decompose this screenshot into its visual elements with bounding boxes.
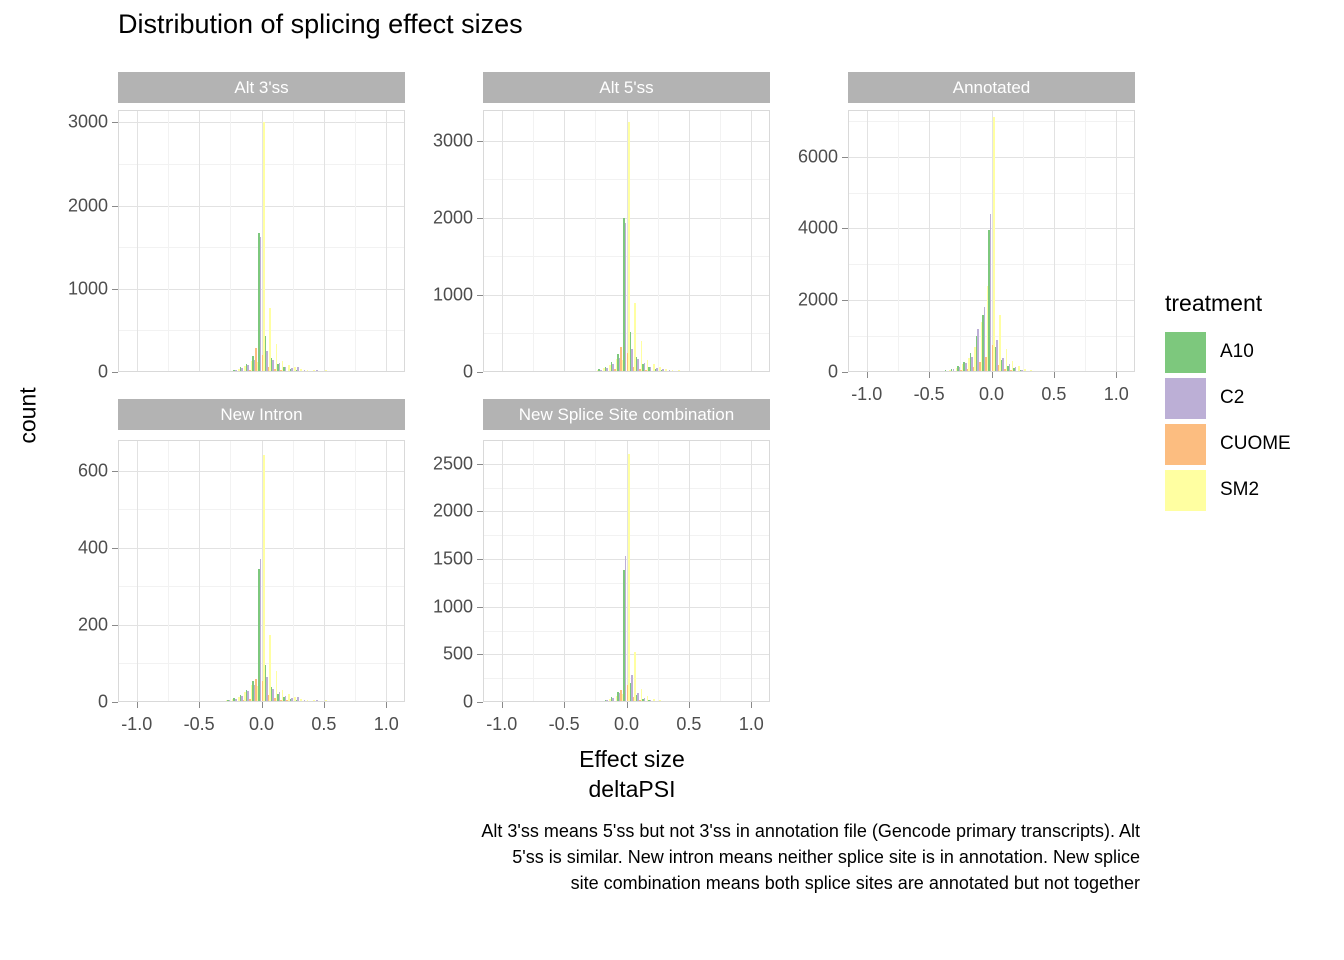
gridline-x-minor <box>293 110 294 372</box>
legend-item-label: C2 <box>1220 387 1244 409</box>
x-axis-tick-label: 1.0 <box>374 714 399 735</box>
facet-strip-label: Alt 3'ss <box>234 78 288 98</box>
legend-item[interactable]: A10 <box>1165 329 1291 375</box>
gridline-x-major <box>689 440 690 702</box>
gridline-x-major <box>1116 110 1117 372</box>
y-axis-tick-label: 0 <box>407 362 473 383</box>
gridline-x-minor <box>898 110 899 372</box>
histogram-bar <box>625 556 627 702</box>
y-axis-tick-label: 0 <box>42 362 108 383</box>
gridline-x-minor <box>355 110 356 372</box>
gridline-x-major <box>137 440 138 702</box>
x-axis-tick-mark <box>262 702 263 708</box>
facet-panel <box>483 110 770 372</box>
gridline-x-major <box>386 440 387 702</box>
legend-key-swatch <box>1165 378 1206 419</box>
y-axis-tick-mark <box>112 548 118 549</box>
legend-item-label: SM2 <box>1220 479 1259 501</box>
gridline-x-major <box>199 440 200 702</box>
legend-item-label: A10 <box>1220 341 1254 363</box>
facet-strip-label: Alt 5'ss <box>599 78 653 98</box>
x-axis-tick-label: 0.0 <box>249 714 274 735</box>
y-axis-tick-mark <box>477 218 483 219</box>
x-axis-title-line2: deltaPSI <box>432 774 832 804</box>
gridline-x-major <box>502 440 503 702</box>
facet-strip: Alt 5'ss <box>483 72 770 103</box>
gridline-x-major <box>564 440 565 702</box>
y-axis-tick-mark <box>477 702 483 703</box>
legend-key-swatch <box>1165 424 1206 465</box>
legend-item[interactable]: SM2 <box>1165 467 1291 513</box>
gridline-x-major <box>502 110 503 372</box>
gridline-x-major <box>137 110 138 372</box>
histogram-bar <box>665 701 667 702</box>
gridline-x-minor <box>293 440 294 702</box>
y-axis-tick-label: 1000 <box>42 278 108 299</box>
histogram-bar <box>993 117 995 372</box>
x-axis-tick-mark <box>137 702 138 708</box>
x-axis-tick-label: -0.5 <box>549 714 580 735</box>
y-axis-tick-mark <box>477 654 483 655</box>
gridline-x-major <box>1054 110 1055 372</box>
y-axis-tick-mark <box>842 372 848 373</box>
x-axis-tick-label: -1.0 <box>486 714 517 735</box>
y-axis-tick-mark <box>842 300 848 301</box>
facet-strip: Annotated <box>848 72 1135 103</box>
histogram-bar <box>325 700 327 702</box>
facet-strip-label: New Splice Site combination <box>519 405 734 425</box>
histogram-bar <box>625 223 627 372</box>
gridline-x-minor <box>720 110 721 372</box>
facet-strip: Alt 3'ss <box>118 72 405 103</box>
gridline-x-minor <box>720 440 721 702</box>
x-axis-tick-label: -1.0 <box>851 384 882 405</box>
histogram-bar <box>260 237 262 372</box>
chart-root: Distribution of splicing effect sizes Al… <box>0 0 1344 960</box>
y-axis-tick-label: 600 <box>42 460 108 481</box>
facet-panel <box>848 110 1135 372</box>
facet-panel <box>118 440 405 702</box>
x-axis-tick-mark <box>689 702 690 708</box>
y-axis-tick-mark <box>112 122 118 123</box>
gridline-x-minor <box>168 110 169 372</box>
facet-strip: New Intron <box>118 399 405 430</box>
x-axis-tick-mark <box>929 372 930 378</box>
y-axis-tick-label: 2000 <box>42 195 108 216</box>
x-axis-tick-mark <box>199 702 200 708</box>
y-axis-tick-label: 400 <box>42 537 108 558</box>
y-axis-tick-mark <box>477 559 483 560</box>
x-axis-tick-mark <box>502 702 503 708</box>
legend-title: treatment <box>1165 290 1291 317</box>
y-axis-tick-label: 1000 <box>407 596 473 617</box>
x-axis-tick-label: 1.0 <box>739 714 764 735</box>
y-axis-tick-mark <box>842 228 848 229</box>
y-axis-tick-mark <box>477 464 483 465</box>
y-axis-tick-mark <box>477 607 483 608</box>
x-axis-tick-mark <box>1054 372 1055 378</box>
legend-key-swatch <box>1165 470 1206 511</box>
y-axis-tick-label: 2500 <box>407 453 473 474</box>
y-axis-tick-mark <box>112 289 118 290</box>
y-axis-tick-label: 2000 <box>772 290 838 311</box>
y-axis-tick-mark <box>477 141 483 142</box>
histogram-bar <box>263 122 265 372</box>
facet-strip-label: Annotated <box>953 78 1031 98</box>
y-axis-tick-label: 1500 <box>407 549 473 570</box>
x-axis-tick-mark <box>564 702 565 708</box>
legend-items: A10C2CUOMESM2 <box>1165 329 1291 513</box>
facet-strip: New Splice Site combination <box>483 399 770 430</box>
y-axis-tick-mark <box>112 372 118 373</box>
gridline-x-minor <box>1023 110 1024 372</box>
x-axis-tick-label: 0.0 <box>614 714 639 735</box>
y-axis-tick-label: 4000 <box>772 218 838 239</box>
x-axis-tick-label: 0.0 <box>979 384 1004 405</box>
x-axis-tick-mark <box>992 372 993 378</box>
x-axis-tick-label: -1.0 <box>121 714 152 735</box>
plot-caption: Alt 3'ss means 5'ss but not 3'ss in anno… <box>480 818 1140 896</box>
x-axis-title-line1: Effect size <box>432 744 832 774</box>
legend-item[interactable]: CUOME <box>1165 421 1291 467</box>
legend-item-label: CUOME <box>1220 433 1291 455</box>
x-axis-title: Effect size deltaPSI <box>432 744 832 804</box>
page-title: Distribution of splicing effect sizes <box>118 9 523 40</box>
histogram-bar <box>1043 371 1045 372</box>
x-axis-tick-mark <box>386 702 387 708</box>
y-axis-title: count <box>15 366 42 466</box>
x-axis-tick-label: 1.0 <box>1104 384 1129 405</box>
gridline-x-minor <box>355 440 356 702</box>
histogram-bar <box>690 371 692 372</box>
y-axis-tick-mark <box>112 625 118 626</box>
x-axis-tick-label: 0.5 <box>676 714 701 735</box>
gridline-x-major <box>751 110 752 372</box>
y-axis-tick-label: 0 <box>772 362 838 383</box>
y-axis-tick-label: 200 <box>42 614 108 635</box>
gridline-x-minor <box>658 440 659 702</box>
gridline-x-minor <box>595 110 596 372</box>
histogram-bar <box>628 454 630 702</box>
facet-panel <box>483 440 770 702</box>
gridline-x-minor <box>595 440 596 702</box>
facet-strip-label: New Intron <box>220 405 302 425</box>
gridline-x-minor <box>168 440 169 702</box>
x-axis-tick-label: 0.5 <box>1041 384 1066 405</box>
y-axis-tick-label: 2000 <box>407 207 473 228</box>
y-axis-tick-mark <box>112 471 118 472</box>
gridline-x-major <box>564 110 565 372</box>
gridline-x-minor <box>658 110 659 372</box>
y-axis-tick-label: 3000 <box>407 130 473 151</box>
x-axis-tick-mark <box>627 702 628 708</box>
y-axis-tick-label: 1000 <box>407 284 473 305</box>
x-axis-tick-mark <box>751 702 752 708</box>
y-axis-tick-label: 0 <box>42 692 108 713</box>
y-axis-tick-label: 6000 <box>772 146 838 167</box>
gridline-x-minor <box>1085 110 1086 372</box>
y-axis-tick-mark <box>842 157 848 158</box>
gridline-x-minor <box>230 440 231 702</box>
y-axis-tick-label: 0 <box>407 692 473 713</box>
gridline-x-major <box>199 110 200 372</box>
gridline-x-minor <box>533 110 534 372</box>
gridline-x-major <box>386 110 387 372</box>
y-axis-tick-mark <box>477 295 483 296</box>
legend-item[interactable]: C2 <box>1165 375 1291 421</box>
y-axis-tick-label: 500 <box>407 644 473 665</box>
gridline-x-major <box>751 440 752 702</box>
gridline-x-major <box>867 110 868 372</box>
x-axis-tick-label: 0.5 <box>311 714 336 735</box>
y-axis-tick-label: 2000 <box>407 501 473 522</box>
gridline-x-major <box>689 110 690 372</box>
facet-panel <box>118 110 405 372</box>
y-axis-tick-label: 3000 <box>42 112 108 133</box>
gridline-x-minor <box>230 110 231 372</box>
y-axis-tick-mark <box>477 372 483 373</box>
legend-key-swatch <box>1165 332 1206 373</box>
gridline-x-major <box>324 440 325 702</box>
x-axis-tick-mark <box>867 372 868 378</box>
gridline-x-minor <box>533 440 534 702</box>
x-axis-tick-mark <box>324 702 325 708</box>
gridline-x-minor <box>960 110 961 372</box>
y-axis-tick-mark <box>112 206 118 207</box>
x-axis-tick-label: -0.5 <box>184 714 215 735</box>
y-axis-tick-mark <box>477 511 483 512</box>
gridline-x-major <box>929 110 930 372</box>
histogram-bar <box>325 370 327 372</box>
y-axis-tick-mark <box>112 702 118 703</box>
x-axis-tick-label: -0.5 <box>914 384 945 405</box>
x-axis-tick-mark <box>1116 372 1117 378</box>
gridline-x-major <box>324 110 325 372</box>
legend: treatment A10C2CUOMESM2 <box>1165 290 1291 513</box>
